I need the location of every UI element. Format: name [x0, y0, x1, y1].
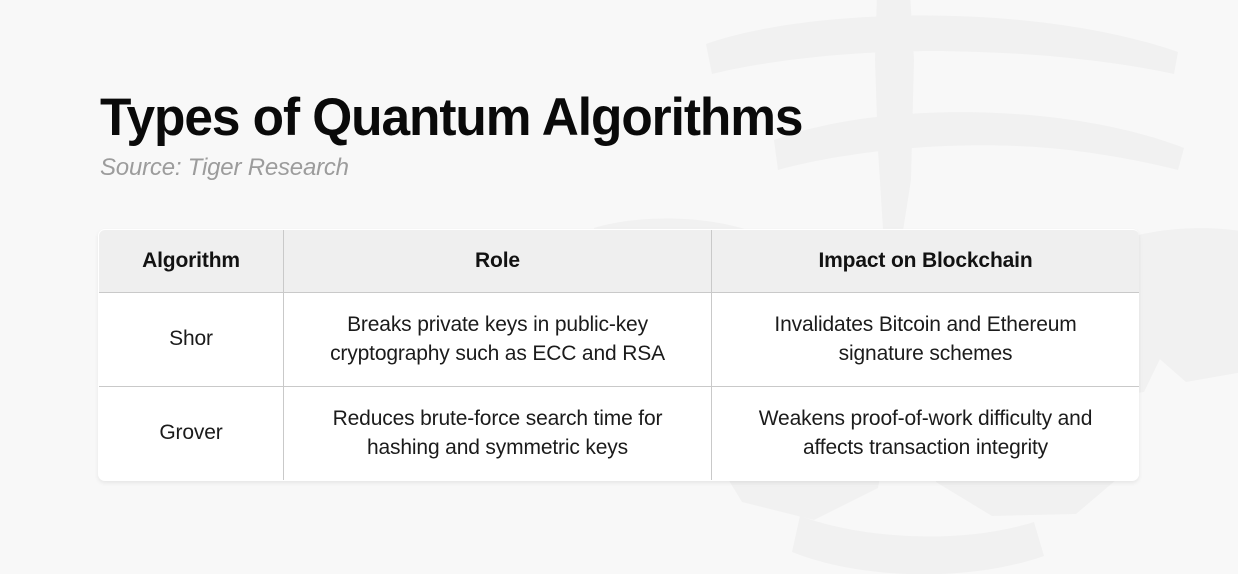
page-title: Types of Quantum Algorithms [100, 90, 973, 145]
cell-role-line: Breaks private keys in public-key [296, 311, 699, 340]
slide-canvas: Types of Quantum Algorithms Source: Tige… [0, 0, 1238, 574]
header-block: Types of Quantum Algorithms Source: Tige… [100, 90, 1000, 182]
cell-algorithm: Grover [99, 387, 284, 481]
quantum-algorithms-table: Algorithm Role Impact on Blockchain Shor… [98, 229, 1140, 481]
table-row: Shor Breaks private keys in public-key c… [99, 293, 1140, 387]
cell-impact-line: affects transaction integrity [724, 434, 1127, 463]
column-header-algorithm: Algorithm [99, 230, 284, 293]
cell-impact: Invalidates Bitcoin and Ethereum signatu… [712, 293, 1140, 387]
cell-impact-line: signature schemes [724, 340, 1127, 369]
column-header-impact: Impact on Blockchain [712, 230, 1140, 293]
cell-role-line: hashing and symmetric keys [296, 434, 699, 463]
cell-role: Breaks private keys in public-key crypto… [284, 293, 712, 387]
column-header-role: Role [284, 230, 712, 293]
table-body: Shor Breaks private keys in public-key c… [99, 293, 1140, 481]
cell-role: Reduces brute-force search time for hash… [284, 387, 712, 481]
table-row: Grover Reduces brute-force search time f… [99, 387, 1140, 481]
table-container: Algorithm Role Impact on Blockchain Shor… [98, 229, 1139, 481]
cell-algorithm: Shor [99, 293, 284, 387]
cell-impact-line: Weakens proof-of-work difficulty and [724, 405, 1127, 434]
cell-role-line: cryptography such as ECC and RSA [296, 340, 699, 369]
page-subtitle-source: Source: Tiger Research [100, 154, 1000, 182]
table-header-row: Algorithm Role Impact on Blockchain [99, 230, 1140, 293]
cell-impact: Weakens proof-of-work difficulty and aff… [712, 387, 1140, 481]
table-header: Algorithm Role Impact on Blockchain [99, 230, 1140, 293]
cell-impact-line: Invalidates Bitcoin and Ethereum [724, 311, 1127, 340]
cell-role-line: Reduces brute-force search time for [296, 405, 699, 434]
